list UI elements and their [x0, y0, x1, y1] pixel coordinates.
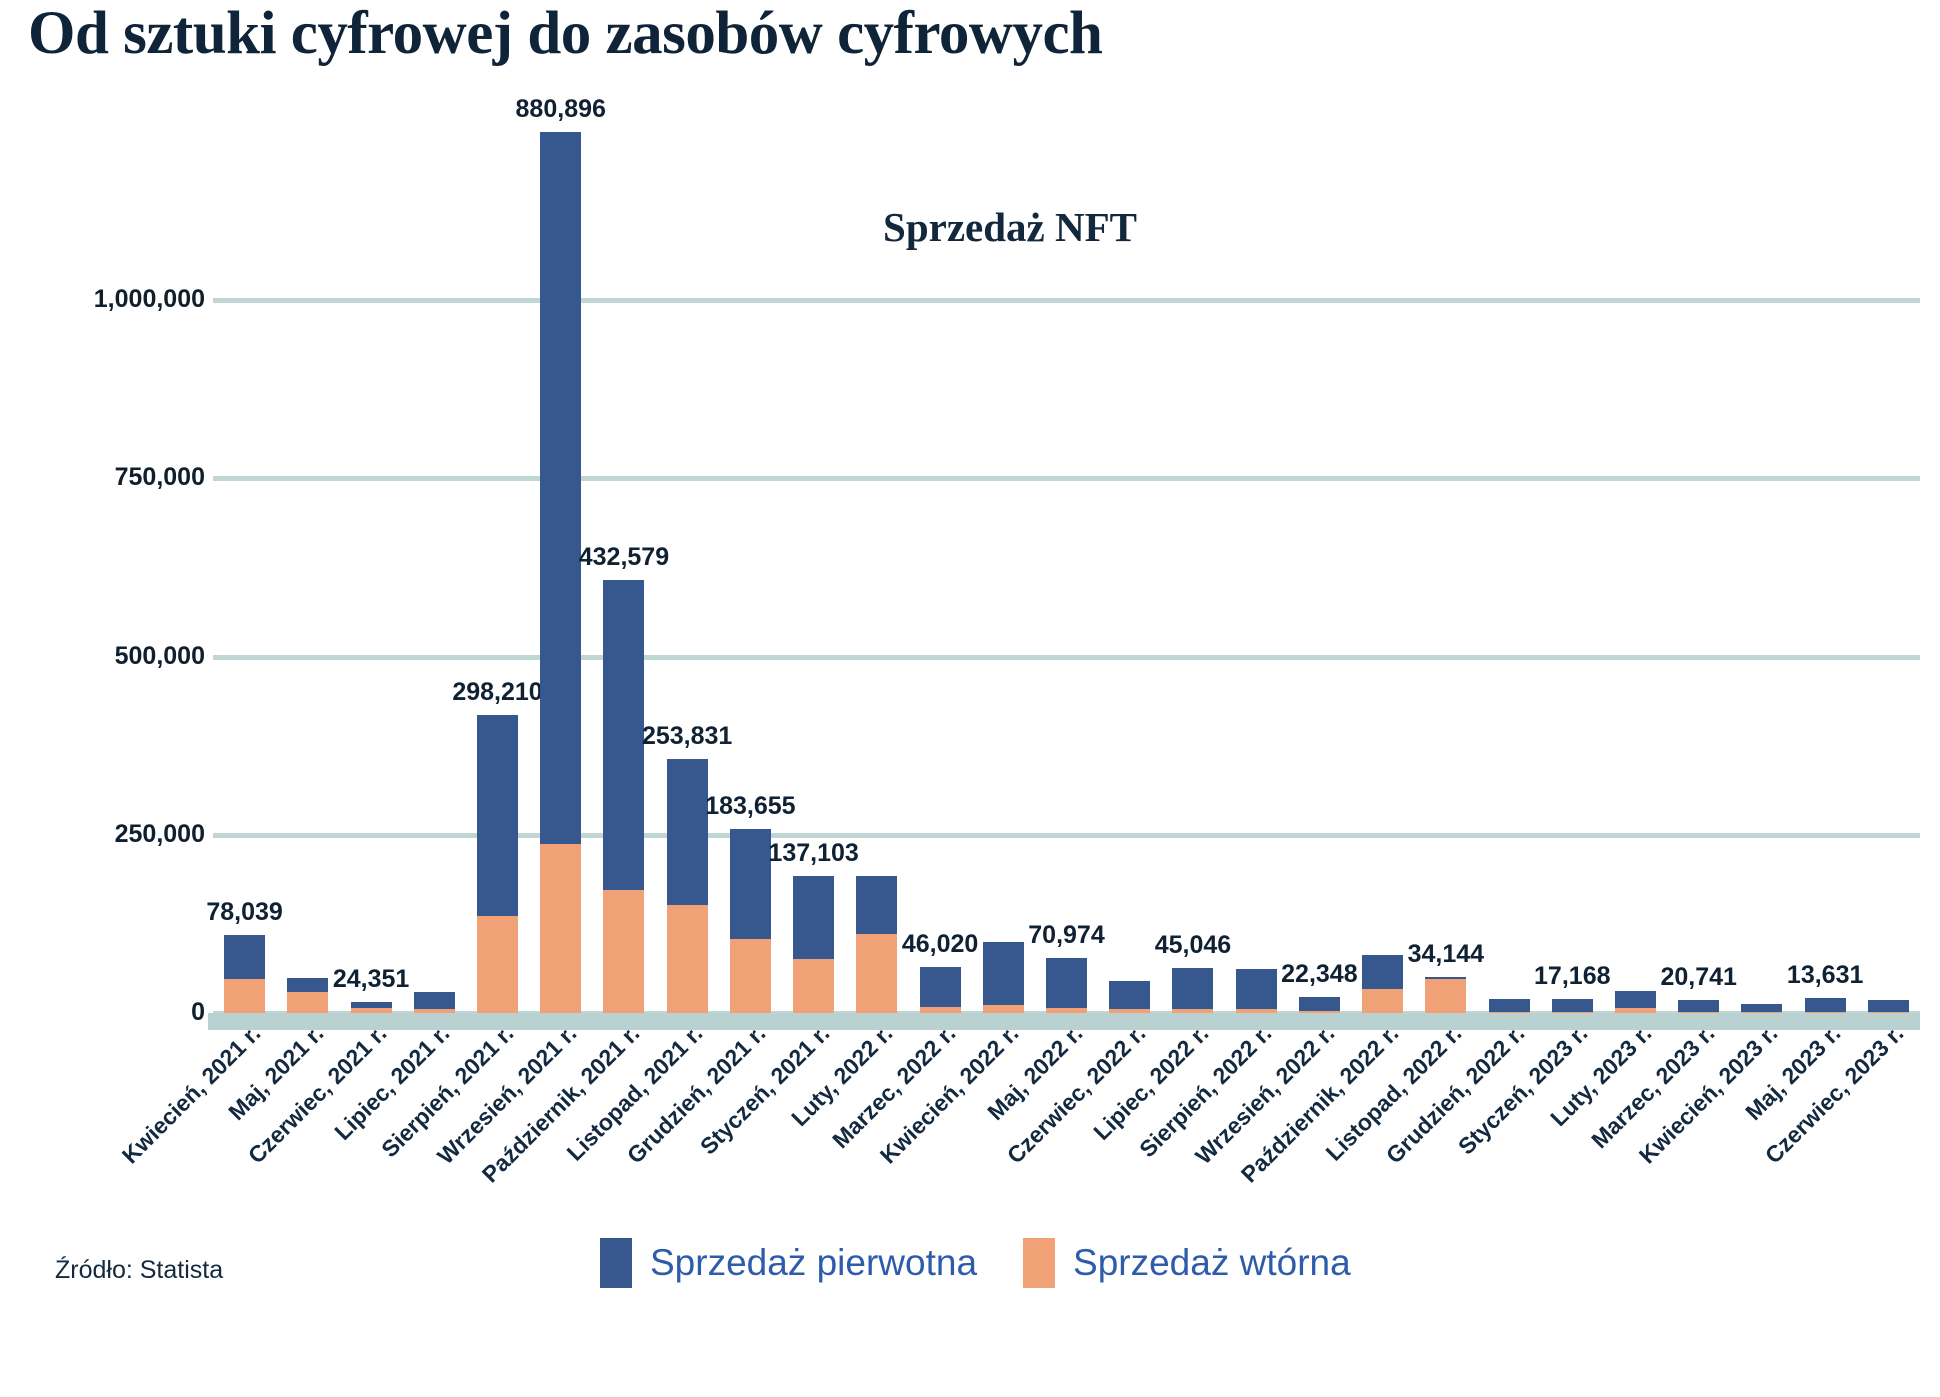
bar-segment-primary[interactable] [414, 992, 455, 1009]
stacked-bar[interactable] [1741, 1004, 1782, 1013]
chart-plot-area: 0250,000500,000750,0001,000,000 78,03924… [213, 300, 1920, 1013]
bar-segment-secondary[interactable] [667, 905, 708, 1013]
bar-series-container: 78,03924,351298,210880,896432,579253,831… [213, 300, 1920, 1013]
chart-legend: Sprzedaż pierwotnaSprzedaż wtórna [600, 1238, 1351, 1288]
stacked-bar[interactable] [920, 967, 961, 1013]
stacked-bar[interactable] [1362, 955, 1403, 1013]
bar-group[interactable]: 13,631 [1805, 300, 1846, 1013]
bar-group[interactable] [983, 300, 1024, 1013]
bar-value-label: 137,103 [768, 839, 858, 868]
bar-value-label: 432,579 [579, 543, 669, 572]
bar-group[interactable] [414, 300, 455, 1013]
stacked-bar[interactable] [1172, 968, 1213, 1013]
legend-swatch-icon [1023, 1238, 1055, 1288]
bar-group[interactable] [1741, 300, 1782, 1013]
bar-value-label: 22,348 [1281, 960, 1357, 989]
bar-value-label: 45,046 [1155, 931, 1231, 960]
legend-item[interactable]: Sprzedaż wtórna [1023, 1238, 1351, 1288]
bar-segment-primary[interactable] [793, 876, 834, 959]
legend-label: Sprzedaż pierwotna [650, 1242, 977, 1284]
bar-segment-primary[interactable] [730, 829, 771, 939]
stacked-bar[interactable] [730, 829, 771, 1013]
bar-value-label: 183,655 [705, 792, 795, 821]
bar-value-label: 253,831 [642, 722, 732, 751]
stacked-bar[interactable] [603, 580, 644, 1013]
bar-segment-primary[interactable] [540, 132, 581, 844]
bar-segment-primary[interactable] [224, 935, 265, 979]
bar-segment-primary[interactable] [287, 978, 328, 992]
bar-group[interactable] [1489, 300, 1530, 1013]
infographic-page: Od sztuki cyfrowej do zasobów cyfrowych … [0, 0, 1940, 1397]
bar-group[interactable]: 298,210 [477, 300, 518, 1013]
bar-group[interactable]: 20,741 [1678, 300, 1719, 1013]
stacked-bar[interactable] [414, 992, 455, 1013]
bar-group[interactable]: 70,974 [1046, 300, 1087, 1013]
stacked-bar[interactable] [667, 759, 708, 1013]
legend-swatch-icon [600, 1238, 632, 1288]
bar-value-label: 24,351 [333, 965, 409, 994]
bar-group[interactable]: 880,896 [540, 300, 581, 1013]
source-note: Źródło: Statista [55, 1256, 223, 1285]
bar-value-label: 20,741 [1660, 963, 1736, 992]
stacked-bar[interactable] [224, 935, 265, 1013]
bar-segment-secondary[interactable] [540, 844, 581, 1013]
bar-group[interactable] [856, 300, 897, 1013]
bar-value-label: 34,144 [1408, 940, 1484, 969]
x-axis-labels: Kwiecień, 2021 r.Maj, 2021 r.Czerwiec, 2… [213, 1020, 1920, 1220]
stacked-bar[interactable] [1615, 991, 1656, 1013]
bar-value-label: 78,039 [206, 898, 282, 927]
bar-segment-secondary[interactable] [983, 1005, 1024, 1013]
bar-segment-secondary[interactable] [793, 959, 834, 1013]
bar-value-label: 880,896 [516, 95, 606, 124]
bar-segment-secondary[interactable] [603, 890, 644, 1013]
bar-segment-primary[interactable] [856, 876, 897, 934]
bar-group[interactable]: 46,020 [920, 300, 961, 1013]
bar-group[interactable]: 253,831 [667, 300, 708, 1013]
bar-segment-primary[interactable] [1299, 997, 1340, 1011]
bar-segment-secondary[interactable] [730, 939, 771, 1013]
bar-segment-secondary[interactable] [856, 934, 897, 1013]
bar-segment-primary[interactable] [1236, 969, 1277, 1009]
bar-group[interactable]: 17,168 [1552, 300, 1593, 1013]
stacked-bar[interactable] [1425, 977, 1466, 1013]
stacked-bar[interactable] [351, 1002, 392, 1013]
bar-segment-primary[interactable] [1615, 991, 1656, 1008]
y-axis-tick-label: 0 [0, 998, 205, 1027]
stacked-bar[interactable] [1299, 997, 1340, 1013]
bar-segment-primary[interactable] [603, 580, 644, 890]
stacked-bar[interactable] [983, 942, 1024, 1013]
bar-group[interactable]: 78,039 [224, 300, 265, 1013]
bar-segment-primary[interactable] [1489, 999, 1530, 1012]
bar-segment-primary[interactable] [1552, 999, 1593, 1012]
bar-group[interactable]: 45,046 [1172, 300, 1213, 1013]
bar-group[interactable]: 183,655 [730, 300, 771, 1013]
bar-group[interactable] [1109, 300, 1150, 1013]
stacked-bar[interactable] [793, 876, 834, 1013]
y-axis-tick-label: 500,000 [0, 642, 205, 671]
bar-group[interactable]: 432,579 [603, 300, 644, 1013]
bar-group[interactable]: 34,144 [1425, 300, 1466, 1013]
bar-group[interactable] [1236, 300, 1277, 1013]
y-axis-tick-label: 1,000,000 [0, 285, 205, 314]
stacked-bar[interactable] [856, 876, 897, 1013]
bar-segment-primary[interactable] [1109, 981, 1150, 1009]
bar-segment-primary[interactable] [1741, 1004, 1782, 1012]
bar-value-label: 298,210 [452, 678, 542, 707]
bar-group[interactable] [287, 300, 328, 1013]
stacked-bar[interactable] [1236, 969, 1277, 1013]
y-axis-tick-label: 750,000 [0, 463, 205, 492]
bar-group[interactable] [1868, 300, 1909, 1013]
bar-segment-primary[interactable] [1172, 968, 1213, 1009]
stacked-bar[interactable] [287, 978, 328, 1013]
stacked-bar[interactable] [1046, 958, 1087, 1013]
bar-segment-primary[interactable] [920, 967, 961, 1007]
chart-title: Sprzedaż NFT [40, 203, 1940, 251]
bar-value-label: 13,631 [1787, 961, 1863, 990]
bar-segment-primary[interactable] [1362, 955, 1403, 989]
bar-group[interactable]: 24,351 [351, 300, 392, 1013]
bar-group[interactable]: 22,348 [1299, 300, 1340, 1013]
stacked-bar[interactable] [1552, 999, 1593, 1013]
bar-segment-primary[interactable] [1046, 958, 1087, 1008]
stacked-bar[interactable] [477, 715, 518, 1013]
bar-segment-primary[interactable] [1868, 1000, 1909, 1012]
stacked-bar[interactable] [1489, 999, 1530, 1013]
bar-group[interactable]: 137,103 [793, 300, 834, 1013]
bar-group[interactable] [1362, 300, 1403, 1013]
bar-value-label: 70,974 [1028, 921, 1104, 950]
legend-label: Sprzedaż wtórna [1073, 1242, 1351, 1284]
stacked-bar[interactable] [1868, 1000, 1909, 1013]
bar-value-label: 46,020 [902, 930, 978, 959]
bar-segment-secondary[interactable] [1362, 989, 1403, 1013]
stacked-bar[interactable] [540, 132, 581, 1013]
stacked-bar[interactable] [1805, 998, 1846, 1013]
bar-segment-primary[interactable] [1805, 998, 1846, 1012]
y-axis-tick-label: 250,000 [0, 820, 205, 849]
bar-segment-secondary[interactable] [224, 979, 265, 1013]
stacked-bar[interactable] [1678, 1000, 1719, 1013]
bar-segment-secondary[interactable] [287, 992, 328, 1013]
page-title: Od sztuki cyfrowej do zasobów cyfrowych [28, 2, 1102, 66]
bar-segment-secondary[interactable] [477, 916, 518, 1013]
bar-segment-primary[interactable] [1678, 1000, 1719, 1012]
stacked-bar[interactable] [1109, 981, 1150, 1013]
bar-value-label: 17,168 [1534, 962, 1610, 991]
bar-segment-primary[interactable] [477, 715, 518, 916]
bar-segment-secondary[interactable] [1425, 979, 1466, 1013]
bar-segment-primary[interactable] [667, 759, 708, 905]
bar-group[interactable] [1615, 300, 1656, 1013]
legend-item[interactable]: Sprzedaż pierwotna [600, 1238, 977, 1288]
bar-segment-primary[interactable] [983, 942, 1024, 1005]
